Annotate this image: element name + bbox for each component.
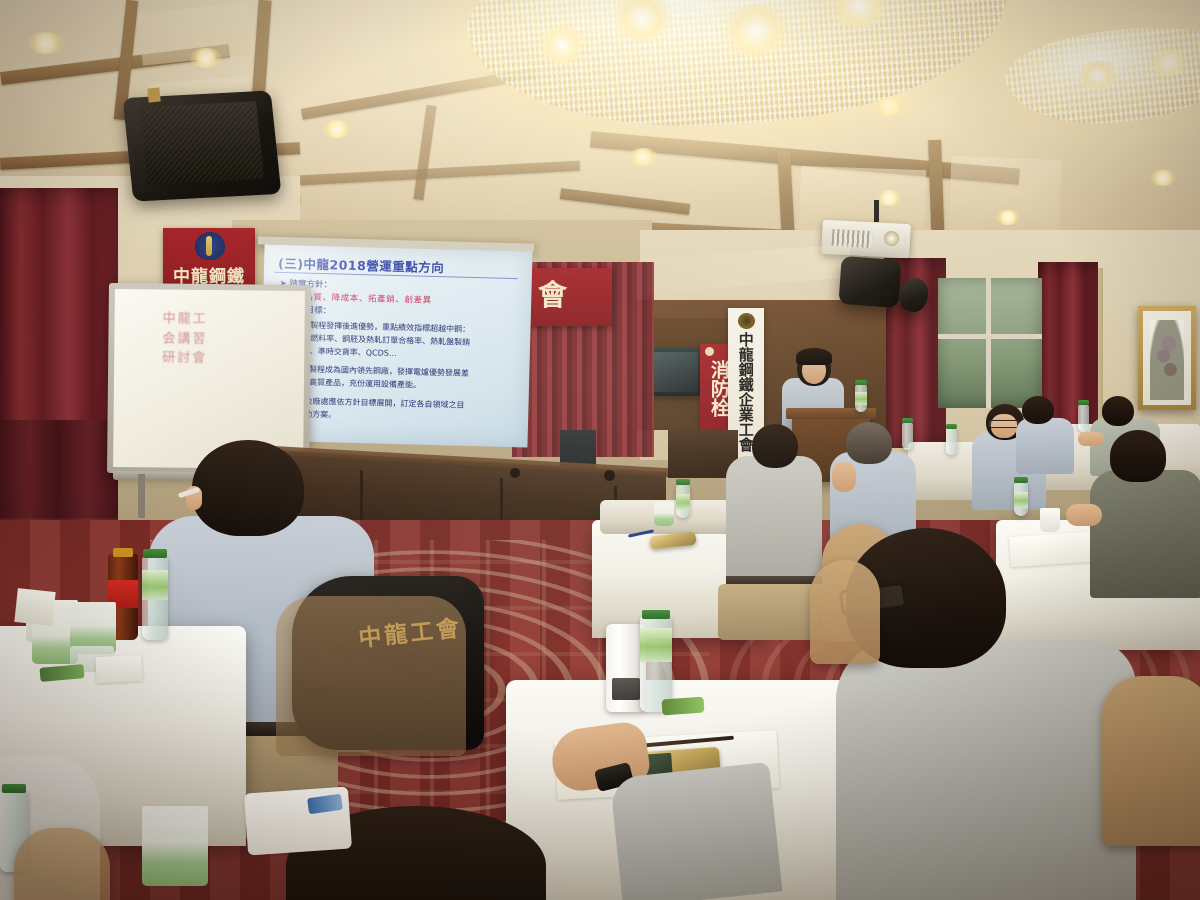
bottle-cap-icon (1078, 400, 1089, 405)
seminar-room-photo: 習會 習會 中龍鋼鐵 企業工會 消防栓 中龍鋼鐵企業工會 (三)中龍2018營運… (0, 0, 1200, 900)
stage-knob-icon (604, 470, 615, 481)
attendee-arm-far-right (1078, 432, 1104, 446)
handout-paper (95, 655, 142, 683)
bottle-cap-icon (2, 784, 26, 793)
attendee-torso-right-front (1090, 470, 1200, 598)
attendee-head-far-right (1102, 396, 1134, 426)
bottle-cap-icon (642, 610, 670, 619)
recessed-downlight (28, 32, 64, 54)
pa-speaker-grille (140, 101, 264, 185)
napkin (14, 588, 55, 626)
attendee-head-center-a (752, 424, 798, 468)
snack-wrapper (661, 697, 704, 716)
paper-cup (1040, 508, 1060, 532)
stage-knob-icon (510, 468, 520, 478)
fire-hydrant-text: 消防栓 (707, 360, 729, 417)
bottle-label (640, 628, 672, 662)
bottle-cap-icon (902, 418, 913, 423)
attendee-head-right-rear (1022, 396, 1054, 424)
chair-left-front (276, 596, 466, 756)
attendee-torso-right-rear (1016, 418, 1074, 474)
attendee-torso-foreground (836, 640, 1136, 900)
projector-mount-rod (874, 200, 879, 222)
chair-foreground-right (1102, 676, 1200, 846)
recessed-downlight (628, 148, 658, 166)
recessed-downlight (1150, 170, 1176, 186)
handout-paper (1009, 531, 1103, 567)
attendee-head-left-front (192, 440, 304, 536)
hydrant-dot-icon (705, 347, 714, 356)
attendee-sleeve-foreground (610, 762, 783, 900)
projector-vent (832, 229, 873, 248)
paper-cup-foreground (142, 806, 208, 886)
union-emblem-icon-2 (738, 313, 755, 329)
chair-mid-right (810, 560, 880, 664)
bottle-label (1014, 492, 1028, 508)
whiteboard-stand-leg (138, 474, 145, 518)
attendee-hand-center-b (832, 462, 856, 492)
water-bottle (946, 428, 957, 455)
water-bottle (1078, 404, 1089, 432)
whiteboard-handwriting: 中龍工会講習研討會 (162, 310, 273, 370)
recessed-downlight (190, 48, 222, 68)
attendee-hand-right-front (1066, 504, 1102, 526)
thermos-label (612, 678, 640, 700)
bottle-label (676, 494, 690, 510)
chair-bottom-left (14, 828, 110, 900)
bottle-cap-icon (676, 479, 690, 485)
attendee-head-right-front (1110, 430, 1166, 482)
ceiling-pa-speaker-right (838, 256, 901, 308)
bottle-cap-icon (855, 380, 867, 385)
bottle-label (142, 570, 168, 600)
bottle-label (855, 392, 867, 405)
cola-bottle-cap-icon (113, 548, 133, 557)
framed-artwork (1138, 306, 1196, 410)
attendee-head-center-b (846, 422, 892, 464)
water-bottle (902, 422, 913, 450)
window-mullion (986, 278, 991, 408)
recessed-downlight (996, 210, 1020, 225)
union-banner-vertical-text: 中龍鋼鐵企業工會 (737, 332, 753, 452)
pa-speaker-mount (147, 87, 160, 102)
union-emblem-glyph (206, 236, 212, 256)
recessed-downlight (876, 190, 902, 206)
attendee-torso-center-a (726, 456, 822, 592)
bottle-cap-icon (143, 549, 167, 558)
glasses-icon (988, 420, 1020, 428)
recessed-downlight (322, 120, 352, 138)
bottle-cap-icon (1014, 477, 1028, 483)
bottle-cap-icon (946, 424, 957, 429)
presenter-hair-icon (796, 348, 832, 365)
paper-cup (654, 502, 674, 526)
